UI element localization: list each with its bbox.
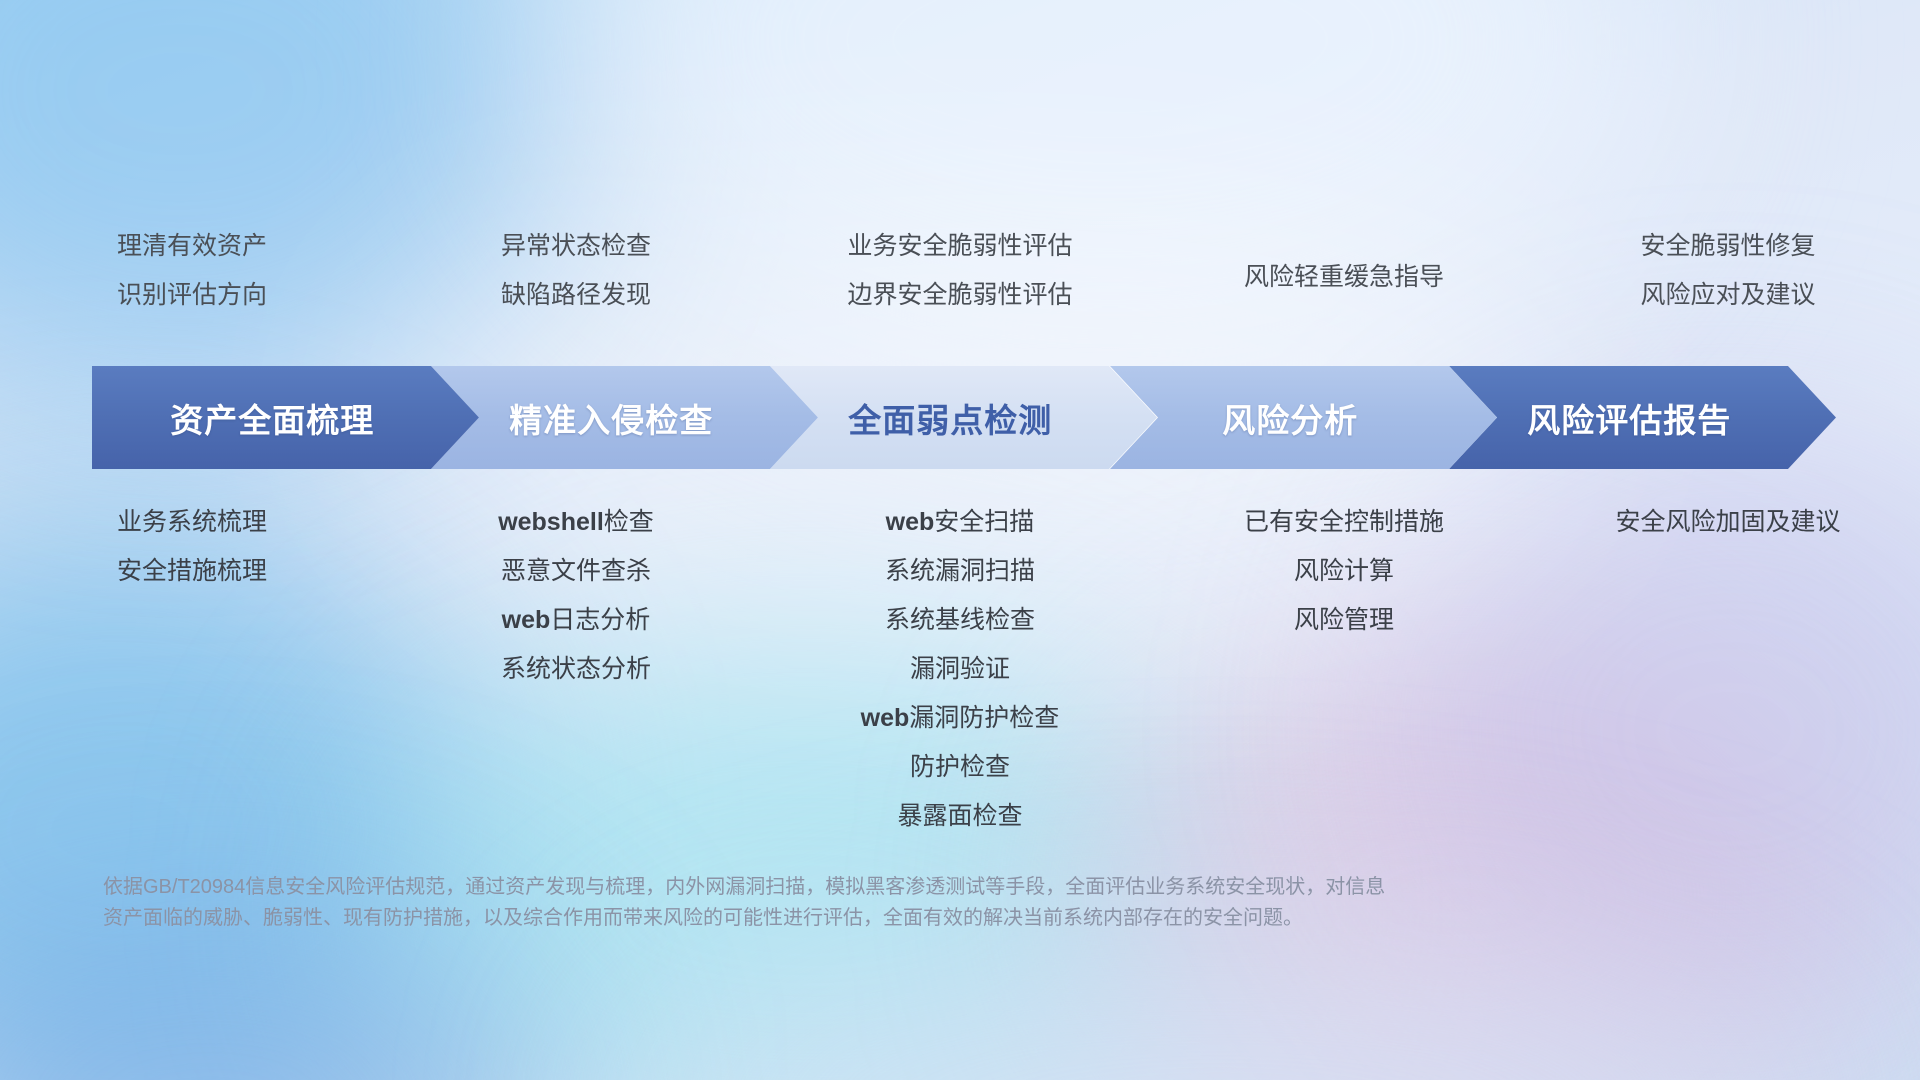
detail-item-text: 已有安全控制措施 (1244, 508, 1444, 536)
top-caption-col-2: 异常状态检查缺陷路径发现 (384, 222, 768, 332)
top-caption-line: 理清有效资产 (0, 222, 384, 271)
detail-item-prefix: web (886, 508, 935, 536)
top-caption-line: 风险应对及建议 (1536, 271, 1920, 320)
detail-list-item: 系统状态分析 (384, 645, 768, 694)
detail-item-text: 安全扫描 (934, 508, 1034, 536)
detail-list-col-4: 已有安全控制措施风险计算风险管理 (1152, 498, 1536, 645)
top-caption-line: 异常状态检查 (384, 222, 768, 271)
detail-item-prefix: webshell (498, 508, 604, 536)
detail-item-text: 系统漏洞扫描 (885, 557, 1035, 585)
detail-list-col-3: web安全扫描系统漏洞扫描系统基线检查漏洞验证web漏洞防护检查防护检查暴露面检… (768, 498, 1152, 841)
detail-list-item: 业务系统梳理 (0, 498, 384, 547)
detail-item-text: 风险计算 (1294, 557, 1394, 585)
process-stage-4[interactable]: 风险分析 (1110, 366, 1497, 469)
detail-item-text: 安全风险加固及建议 (1615, 508, 1840, 536)
bottom-detail-row: 业务系统梳理安全措施梳理webshell检查恶意文件查杀web日志分析系统状态分… (0, 498, 1920, 841)
detail-item-prefix: web (502, 606, 551, 634)
detail-list-item: 安全措施梳理 (0, 547, 384, 596)
detail-list-item: 风险管理 (1152, 596, 1536, 645)
footer-line: 依据GB/T20984信息安全风险评估规范，通过资产发现与梳理，内外网漏洞扫描，… (103, 872, 1803, 903)
top-caption-line: 识别评估方向 (0, 271, 384, 320)
detail-list-item: 恶意文件查杀 (384, 547, 768, 596)
detail-item-text: 恶意文件查杀 (501, 557, 651, 585)
top-caption-line: 风险轻重缓急指导 (1152, 253, 1536, 302)
detail-list-col-2: webshell检查恶意文件查杀web日志分析系统状态分析 (384, 498, 768, 694)
process-arrow-band: 资产全面梳理精准入侵检查全面弱点检测风险分析风险评估报告 (92, 366, 1836, 469)
process-stage-1[interactable]: 资产全面梳理 (92, 366, 479, 469)
diagram-stage: 理清有效资产识别评估方向异常状态检查缺陷路径发现业务安全脆弱性评估边界安全脆弱性… (0, 0, 1920, 1080)
detail-item-text: 风险管理 (1294, 606, 1394, 634)
detail-list-item: webshell检查 (384, 498, 768, 547)
detail-list-item: 漏洞验证 (768, 645, 1152, 694)
detail-list-item: web漏洞防护检查 (768, 694, 1152, 743)
detail-item-text: 业务系统梳理 (117, 508, 267, 536)
detail-list-col-5: 安全风险加固及建议 (1536, 498, 1920, 547)
detail-list-item: 风险计算 (1152, 547, 1536, 596)
detail-item-text: 漏洞防护检查 (909, 704, 1059, 732)
detail-item-text: 漏洞验证 (910, 655, 1010, 683)
process-stage-label: 全面弱点检测 (848, 394, 1052, 442)
detail-list-item: 系统基线检查 (768, 596, 1152, 645)
process-stage-2[interactable]: 精准入侵检查 (431, 366, 818, 469)
top-caption-col-3: 业务安全脆弱性评估边界安全脆弱性评估 (768, 222, 1152, 332)
detail-list-col-1: 业务系统梳理安全措施梳理 (0, 498, 384, 596)
detail-item-text: 检查 (604, 508, 654, 536)
detail-list-item: 暴露面检查 (768, 792, 1152, 841)
detail-item-text: 系统状态分析 (501, 655, 651, 683)
detail-list-item: 防护检查 (768, 743, 1152, 792)
process-stage-3[interactable]: 全面弱点检测 (770, 366, 1157, 469)
process-stage-5[interactable]: 风险评估报告 (1449, 366, 1836, 469)
detail-item-text: 防护检查 (910, 753, 1010, 781)
top-caption-row: 理清有效资产识别评估方向异常状态检查缺陷路径发现业务安全脆弱性评估边界安全脆弱性… (0, 222, 1920, 332)
top-caption-line: 业务安全脆弱性评估 (768, 222, 1152, 271)
footer-description: 依据GB/T20984信息安全风险评估规范，通过资产发现与梳理，内外网漏洞扫描，… (103, 872, 1803, 934)
detail-list-item: 已有安全控制措施 (1152, 498, 1536, 547)
footer-line: 资产面临的威胁、脆弱性、现有防护措施，以及综合作用而带来风险的可能性进行评估，全… (103, 903, 1803, 934)
detail-list-item: web日志分析 (384, 596, 768, 645)
top-caption-col-4: 风险轻重缓急指导 (1152, 222, 1536, 332)
process-stage-label: 风险分析 (1222, 394, 1358, 442)
detail-item-text: 系统基线检查 (885, 606, 1035, 634)
process-stage-label: 精准入侵检查 (509, 394, 713, 442)
detail-item-text: 安全措施梳理 (117, 557, 267, 585)
detail-item-text: 暴露面检查 (897, 802, 1022, 830)
top-caption-line: 安全脆弱性修复 (1536, 222, 1920, 271)
detail-list-item: web安全扫描 (768, 498, 1152, 547)
detail-list-item: 安全风险加固及建议 (1536, 498, 1920, 547)
detail-list-item: 系统漏洞扫描 (768, 547, 1152, 596)
detail-item-prefix: web (861, 704, 910, 732)
top-caption-line: 缺陷路径发现 (384, 271, 768, 320)
process-stage-label: 风险评估报告 (1527, 394, 1731, 442)
detail-item-text: 日志分析 (550, 606, 650, 634)
top-caption-line: 边界安全脆弱性评估 (768, 271, 1152, 320)
top-caption-col-5: 安全脆弱性修复风险应对及建议 (1536, 222, 1920, 332)
process-stage-label: 资产全面梳理 (170, 394, 374, 442)
top-caption-col-1: 理清有效资产识别评估方向 (0, 222, 384, 332)
